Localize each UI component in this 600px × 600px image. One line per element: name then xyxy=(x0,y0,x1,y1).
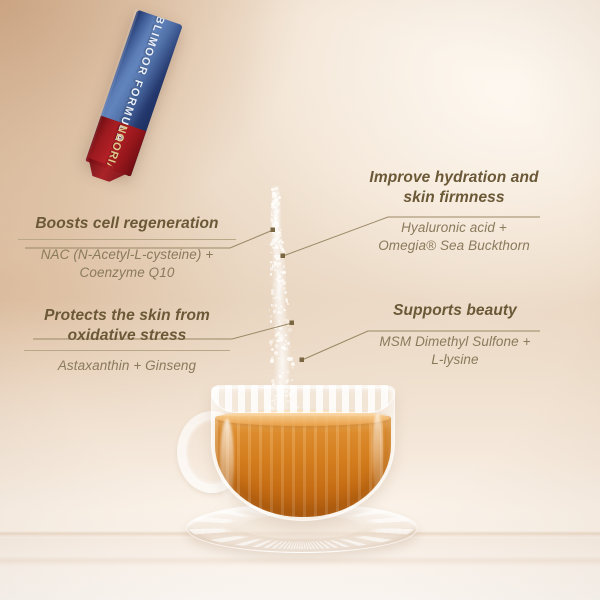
callout-ingredient-line-1: MSM Dimethyl Sulfone + xyxy=(360,333,550,351)
callout-heading-line-1: Improve hydration and xyxy=(358,168,550,188)
callout-improve-hydration-and-skin-firmness: Improve hydration and skin firmness Hyal… xyxy=(358,168,550,255)
callout-heading-line-1: Protects the skin from xyxy=(24,306,230,326)
callout-ingredient-line-2: Omegia® Sea Buckthorn xyxy=(358,237,550,255)
callout-boosts-cell-regeneration: Boosts cell regeneration NAC (N-Acetyl-L… xyxy=(18,214,236,282)
glass-teacup xyxy=(186,383,416,558)
callout-ingredient-line-1: NAC (N-Acetyl-L-cysteine) + xyxy=(18,246,236,264)
cup-beaded-rim xyxy=(211,385,395,413)
callout-divider xyxy=(18,239,236,240)
callout-ingredient-line-1: Astaxanthin + Ginseng xyxy=(24,357,230,375)
callout-divider xyxy=(24,350,230,351)
callout-heading-line-2: oxidative stress xyxy=(24,326,230,346)
product-infographic: SUBLIMOOR FORMULA NOORIA xyxy=(0,0,600,600)
callout-heading: Supports beauty xyxy=(360,301,550,321)
cup-highlight-left xyxy=(220,419,234,505)
callout-ingredient-line-2: Coenzyme Q10 xyxy=(18,264,236,282)
callout-ingredient-line-1: Hyaluronic acid + xyxy=(358,219,550,237)
cup-flutes xyxy=(215,416,391,517)
cup-highlight-right xyxy=(372,413,383,493)
callout-protects-the-skin-from-oxidative-stress: Protects the skin from oxidative stress … xyxy=(24,306,230,375)
callout-heading: Boosts cell regeneration xyxy=(18,214,236,234)
callout-ingredient-line-2: L-lysine xyxy=(360,351,550,369)
callout-supports-beauty: Supports beauty MSM Dimethyl Sulfone + L… xyxy=(360,301,550,369)
sachet-body: SUBLIMOOR FORMULA NOORIA xyxy=(85,10,182,177)
callout-heading-line-2: skin firmness xyxy=(358,188,550,208)
